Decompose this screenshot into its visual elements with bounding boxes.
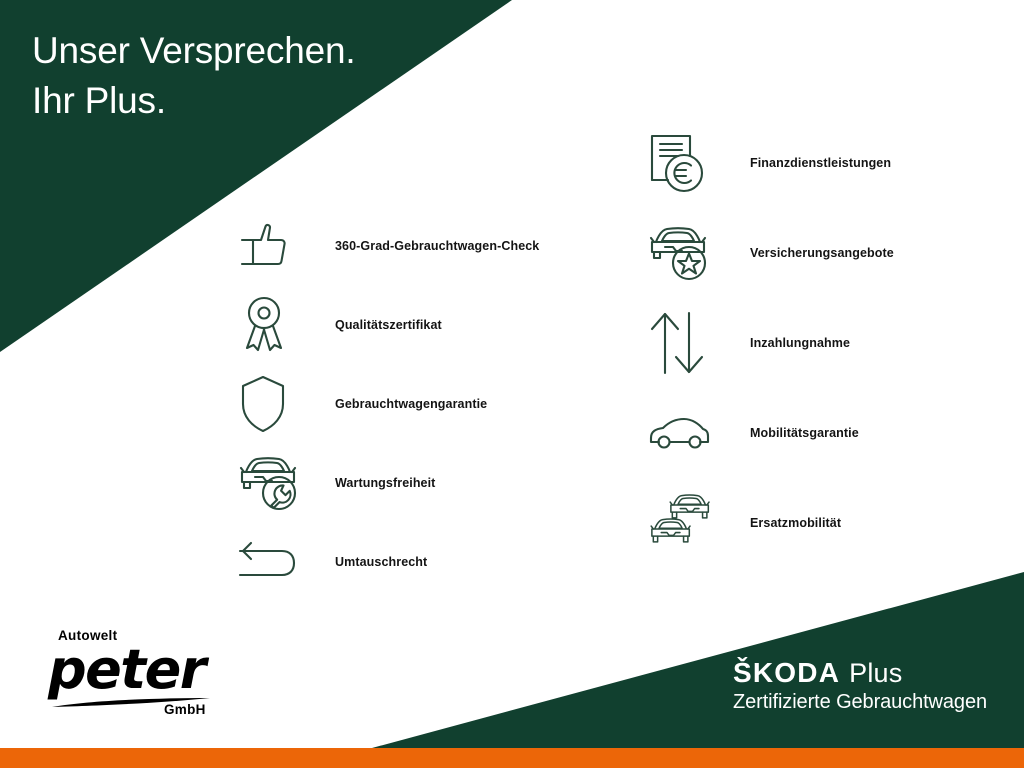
feature-list-right: Finanzdienstleistungen Versicherungsange… — [648, 118, 894, 568]
feature-label: Ersatzmobilität — [750, 516, 841, 530]
feature-label: Gebrauchtwagengarantie — [335, 397, 487, 411]
two-cars-icon — [648, 490, 720, 556]
feature-item-360-grad-check: 360-Grad-Gebrauchtwagen-Check — [238, 206, 539, 285]
skoda-wordmark: ŠKODA — [733, 658, 840, 688]
page-title-line-2: Ihr Plus. — [32, 80, 166, 121]
return-arrow-icon — [238, 529, 310, 595]
skoda-plus-lockup: ŠKODA Plus Zertifizierte Gebrauchtwagen — [733, 658, 987, 714]
feature-item-gebrauchtwagengarantie: Gebrauchtwagengarantie — [238, 364, 539, 443]
feature-item-umtauschrecht: Umtauschrecht — [238, 522, 539, 601]
feature-label: Versicherungsangebote — [750, 246, 894, 260]
shield-icon — [238, 371, 310, 437]
feature-label: 360-Grad-Gebrauchtwagen-Check — [335, 239, 539, 253]
feature-label: Mobilitätsgarantie — [750, 426, 859, 440]
feature-list-left: 360-Grad-Gebrauchtwagen-Check Qualitätsz… — [238, 206, 539, 601]
page-title-line-1: Unser Versprechen. — [32, 30, 355, 71]
thumbs-up-icon — [238, 213, 310, 279]
promo-slide: Unser Versprechen.Ihr Plus. 360-Grad-Geb… — [0, 0, 1024, 768]
feature-item-qualitaetszertifikat: Qualitätszertifikat — [238, 285, 539, 364]
award-ribbon-icon — [238, 292, 310, 358]
dealer-logo-suffix-text: GmbH — [164, 702, 206, 717]
feature-label: Wartungsfreiheit — [335, 476, 435, 490]
car-wrench-icon — [238, 450, 310, 516]
feature-item-wartungsfreiheit: Wartungsfreiheit — [238, 443, 539, 522]
feature-label: Inzahlungnahme — [750, 336, 850, 350]
document-euro-icon — [648, 130, 720, 196]
feature-label: Umtauschrecht — [335, 555, 427, 569]
car-star-icon — [648, 220, 720, 286]
feature-item-inzahlungnahme: Inzahlungnahme — [648, 298, 894, 388]
feature-item-versicherungsangebote: Versicherungsangebote — [648, 208, 894, 298]
plus-wordmark: Plus — [849, 658, 902, 688]
page-title: Unser Versprechen.Ihr Plus. — [32, 26, 355, 126]
up-down-arrows-icon — [648, 310, 720, 376]
feature-item-ersatzmobilitaet: Ersatzmobilität — [648, 478, 894, 568]
skoda-plus-tagline: Zertifizierte Gebrauchtwagen — [733, 690, 987, 714]
feature-item-mobilitaetsgarantie: Mobilitätsgarantie — [648, 388, 894, 478]
feature-label: Finanzdienstleistungen — [750, 156, 891, 170]
dealer-logo-main-text: peter — [48, 638, 205, 701]
skoda-plus-wordmark-row: ŠKODA Plus — [733, 658, 987, 688]
dealer-logo: Autowelt peter GmbH — [48, 628, 248, 720]
feature-item-finanzdienstleistungen: Finanzdienstleistungen — [648, 118, 894, 208]
feature-label: Qualitätszertifikat — [335, 318, 442, 332]
car-side-icon — [648, 400, 720, 466]
orange-footer-bar — [0, 748, 1024, 768]
